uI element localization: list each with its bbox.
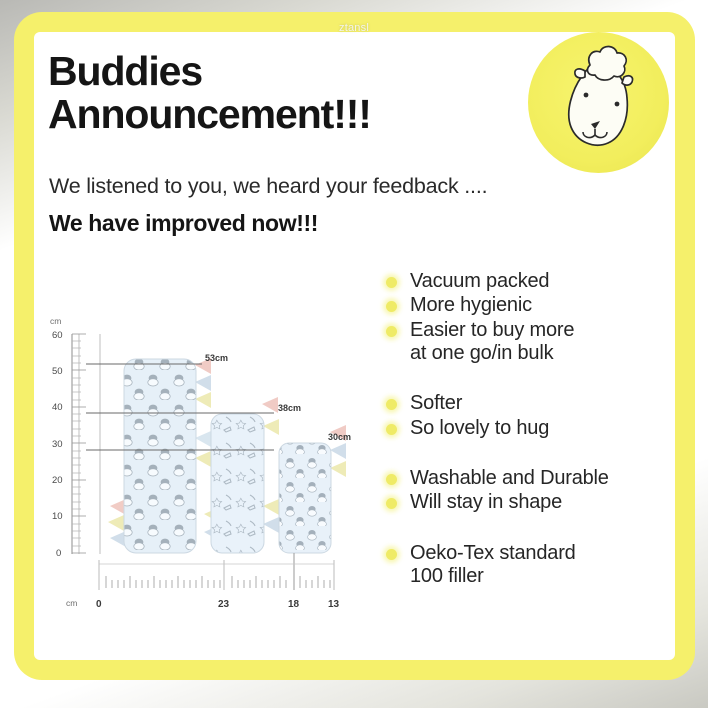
svg-text:20: 20	[52, 475, 63, 486]
list-item-label: So lovely to hug	[410, 416, 549, 440]
svg-text:10: 10	[52, 511, 63, 522]
list-item-label: Vacuum packed	[410, 269, 549, 293]
pillow-large	[124, 359, 196, 553]
list-item: Washable and Durable	[386, 466, 671, 490]
x-axis-unit: cm	[66, 598, 77, 608]
pillow-medium	[211, 414, 264, 553]
list-item: Vacuum packed	[386, 269, 671, 293]
bullet-dot-icon	[386, 301, 397, 312]
svg-text:60: 60	[52, 330, 63, 341]
svg-text:cm: cm	[50, 316, 61, 326]
pillow-small	[279, 443, 331, 553]
size-chart: cm 60 50 40 30 20 10 0	[42, 310, 372, 620]
list-item: So lovely to hug	[386, 416, 671, 440]
sheep-icon	[528, 32, 669, 173]
page-title: Buddies Announcement!!!	[48, 50, 371, 135]
y-axis-ruler: cm 60 50 40 30 20 10 0	[50, 316, 100, 559]
bullet-dot-icon	[386, 326, 397, 337]
bullet-dot-icon	[386, 549, 397, 560]
list-item: Easier to buy more	[386, 318, 671, 342]
sheep-logo	[528, 32, 669, 173]
list-item-label: Softer	[410, 391, 462, 415]
feature-list: Vacuum packed More hygienic Easier to bu…	[386, 269, 671, 614]
feature-group-3: Washable and Durable Will stay in shape	[386, 466, 671, 515]
callout-small: 30cm	[328, 432, 351, 442]
bullet-dot-icon	[386, 498, 397, 509]
list-item-label: Easier to buy more	[410, 318, 574, 342]
list-item-label: Oeko-Tex standard	[410, 541, 576, 565]
callout-large: 53cm	[205, 353, 228, 363]
subtitle-text: We listened to you, we heard your feedba…	[49, 174, 487, 199]
list-item: More hygienic	[386, 293, 671, 317]
watermark-text: ztansl	[0, 22, 708, 34]
x-tick-0: 0	[96, 599, 102, 610]
bullet-dot-icon	[386, 277, 397, 288]
list-item-label: Will stay in shape	[410, 490, 562, 514]
list-item: Will stay in shape	[386, 490, 671, 514]
svg-text:40: 40	[52, 402, 63, 413]
feature-group-1: Vacuum packed More hygienic Easier to bu…	[386, 269, 671, 365]
content-card: Buddies Announcement!!! We listened to y…	[34, 32, 675, 660]
list-item-sublabel: 100 filler	[410, 565, 671, 588]
list-item-sublabel: at one go/in bulk	[410, 342, 671, 365]
svg-text:50: 50	[52, 366, 63, 377]
x-axis-ruler: cm 0 23 18 13	[66, 553, 340, 610]
list-item-label: Washable and Durable	[410, 466, 609, 490]
feature-group-2: Softer So lovely to hug	[386, 391, 671, 440]
subtitle-bold-text: We have improved now!!!	[49, 210, 318, 237]
x-tick-18: 18	[288, 599, 300, 610]
x-tick-23: 23	[218, 599, 230, 610]
bullet-dot-icon	[386, 424, 397, 435]
list-item: Softer	[386, 391, 671, 415]
feature-group-4: Oeko-Tex standard 100 filler	[386, 541, 671, 588]
bullet-dot-icon	[386, 399, 397, 410]
bullet-dot-icon	[386, 474, 397, 485]
list-item: Oeko-Tex standard	[386, 541, 671, 565]
list-item-label: More hygienic	[410, 293, 532, 317]
callout-medium: 38cm	[278, 403, 301, 413]
svg-text:30: 30	[52, 439, 63, 450]
poster-root: ztansl Buddies Announcement!!! We listen…	[0, 0, 708, 708]
x-tick-13: 13	[328, 599, 340, 610]
svg-text:0: 0	[56, 548, 61, 559]
